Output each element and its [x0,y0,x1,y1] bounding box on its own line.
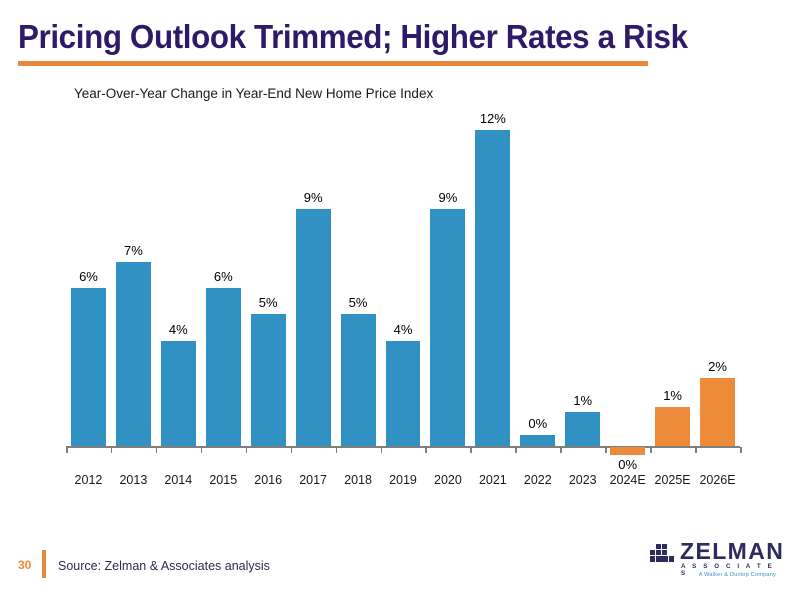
x-label-2026E: 2026E [695,473,740,487]
x-tick-3 [201,447,203,453]
bar-2021: 12% [470,110,515,446]
bar-value-2019: 4% [381,322,426,337]
bar-rect-2024E [610,447,645,455]
bar-2025E: 1% [650,110,695,446]
bar-2017: 9% [291,110,336,446]
logo-dot [656,544,661,549]
zelman-logo: ZELMAN A S S O C I A T E S A Walker & Du… [650,538,776,582]
x-tick-11 [560,447,562,453]
x-label-2012: 2012 [66,473,111,487]
x-label-2020: 2020 [425,473,470,487]
page-title: Pricing Outlook Trimmed; Higher Rates a … [18,18,683,56]
bar-rect-2014 [161,341,196,446]
bar-rect-2021 [475,130,510,446]
bar-value-2012: 6% [66,269,111,284]
bar-rect-2017 [296,209,331,446]
bar-value-2021: 12% [470,111,515,126]
x-tick-0 [66,447,68,453]
bar-value-2020: 9% [425,190,470,205]
bar-rect-2018 [341,314,376,446]
bar-2020: 9% [425,110,470,446]
bar-2014: 4% [156,110,201,446]
bar-rect-2026E [700,378,735,446]
bar-value-2025E: 1% [650,388,695,403]
bar-value-2022: 0% [515,416,560,431]
x-tick-1 [111,447,113,453]
logo-dot [662,544,667,549]
bar-value-2016: 5% [246,295,291,310]
bar-2013: 7% [111,110,156,446]
x-label-2022: 2022 [515,473,560,487]
logo-dot [650,556,655,561]
bar-2019: 4% [381,110,426,446]
x-label-2014: 2014 [156,473,201,487]
logo-dot [650,550,655,555]
bar-rect-2023 [565,412,600,446]
bar-rect-2019 [386,341,421,446]
x-tick-4 [246,447,248,453]
bar-2015: 6% [201,110,246,446]
logo-wordmark: ZELMAN [680,540,784,563]
bar-rect-2013 [116,262,151,446]
source-note: Source: Zelman & Associates analysis [58,559,270,573]
x-label-2023: 2023 [560,473,605,487]
logo-dot [662,556,667,561]
x-label-2021: 2021 [470,473,515,487]
x-label-2015: 2015 [201,473,246,487]
bar-rect-2022 [520,435,555,446]
logo-dot [669,556,674,561]
x-label-2025E: 2025E [650,473,695,487]
logo-dot [656,550,661,555]
logo-tagline: A Walker & Dunlop Company [699,572,776,578]
x-tick-8 [425,447,427,453]
bar-rect-2015 [206,288,241,446]
x-label-2016: 2016 [246,473,291,487]
x-label-2018: 2018 [336,473,381,487]
bar-2026E: 2% [695,110,740,446]
bar-2022: 0% [515,110,560,446]
bar-2016: 5% [246,110,291,446]
x-tick-13 [650,447,652,453]
bar-value-2013: 7% [111,243,156,258]
bar-value-2023: 1% [560,393,605,408]
x-tick-14 [695,447,697,453]
x-tick-6 [336,447,338,453]
footer-divider [42,550,46,578]
x-label-2017: 2017 [291,473,336,487]
bar-rect-2016 [251,314,286,446]
x-tick-7 [381,447,383,453]
page-number: 30 [18,558,31,572]
x-tick-9 [470,447,472,453]
bar-value-2015: 6% [201,269,246,284]
bar-2024E: 0% [605,447,650,487]
bar-value-2024E: 0% [605,457,650,472]
bar-2012: 6% [66,110,111,446]
bar-value-2018: 5% [336,295,381,310]
bar-value-2017: 9% [291,190,336,205]
x-tick-10 [515,447,517,453]
bar-rect-2025E [655,407,690,447]
bar-value-2026E: 2% [695,359,740,374]
bar-rect-2012 [71,288,106,446]
bar-2018: 5% [336,110,381,446]
x-label-2013: 2013 [111,473,156,487]
x-tick-end [740,447,742,453]
logo-dot [656,556,661,561]
logo-grid-icon [650,544,676,566]
title-underline-rule [18,61,648,66]
x-label-2019: 2019 [381,473,426,487]
x-tick-2 [156,447,158,453]
logo-dot [662,550,667,555]
x-tick-5 [291,447,293,453]
bar-rect-2020 [430,209,465,446]
chart-title: Year-Over-Year Change in Year-End New Ho… [74,86,433,101]
bar-2023: 1% [560,110,605,446]
bar-value-2014: 4% [156,322,201,337]
